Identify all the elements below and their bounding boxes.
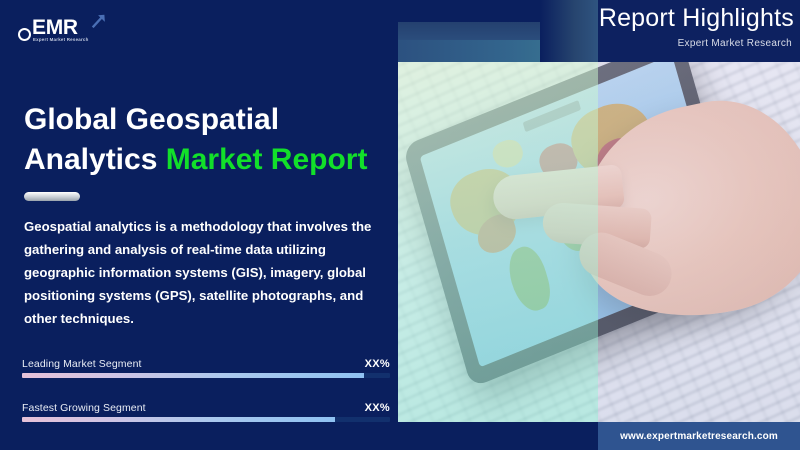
hero-image: [398, 62, 800, 422]
segment-progress-fill: [22, 373, 364, 378]
fastest-growing-segment: Fastest Growing Segment XX%: [22, 402, 390, 422]
title-line-2-highlight: Market Report: [166, 143, 368, 176]
report-description: Geospatial analytics is a methodology th…: [24, 216, 396, 331]
title-line-2-white: Analytics: [24, 143, 166, 176]
page-title: Report Highlights: [598, 4, 800, 33]
photo-content: [398, 62, 800, 422]
growth-arrow-icon: [90, 12, 108, 30]
logo-tagline: Expert Market Research: [33, 37, 89, 42]
segment-progress-fill: [22, 417, 335, 422]
header: Report Highlights Expert Market Research: [598, 0, 800, 62]
green-tint-overlay: [398, 62, 598, 422]
segment-value: XX%: [365, 358, 390, 370]
segment-label: Fastest Growing Segment: [22, 402, 146, 414]
title-divider: [24, 192, 80, 201]
blue-tint-overlay: [598, 62, 800, 422]
segment-progress-track: [22, 373, 390, 378]
emr-logo[interactable]: EMR Expert Market Research: [18, 12, 128, 46]
circle-icon: [18, 28, 31, 41]
segment-progress-track: [22, 417, 390, 422]
segment-header-row: Leading Market Segment XX%: [22, 358, 390, 370]
title-line-1: Global Geospatial: [24, 103, 279, 136]
segment-value: XX%: [365, 402, 390, 414]
segment-label: Leading Market Segment: [22, 358, 142, 370]
segment-header-row: Fastest Growing Segment XX%: [22, 402, 390, 414]
header-subtitle: Expert Market Research: [598, 38, 800, 49]
leading-market-segment: Leading Market Segment XX%: [22, 358, 390, 378]
website-url[interactable]: www.expertmarketresearch.com: [598, 422, 800, 450]
report-title: Global Geospatial Analytics Market Repor…: [24, 100, 394, 180]
header-gradient-strip: [540, 0, 598, 62]
report-highlights-slide: Report Highlights Expert Market Research…: [0, 0, 800, 450]
